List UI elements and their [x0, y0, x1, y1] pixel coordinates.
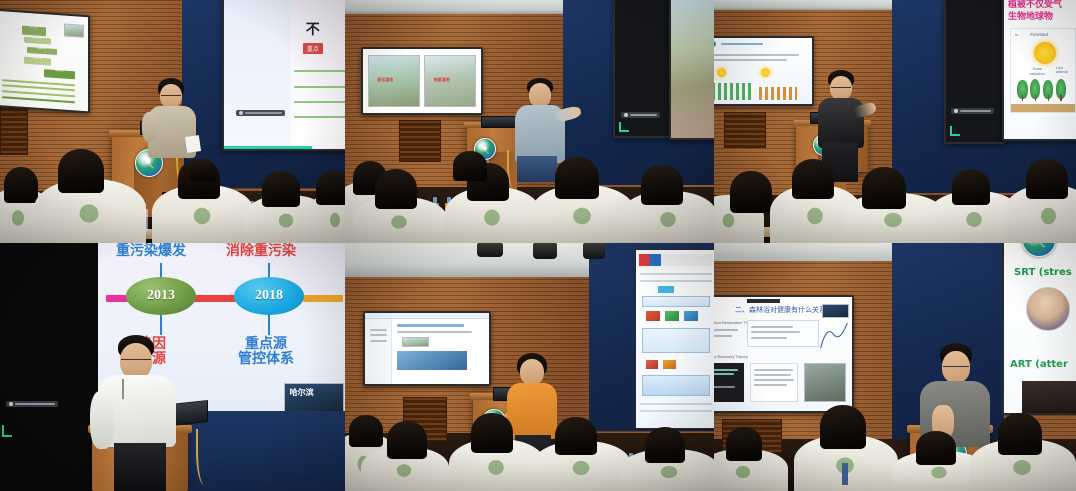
accent-corner	[950, 126, 960, 136]
diagram-node: 结果分析	[44, 70, 75, 80]
figure-label: Forested	[1030, 32, 1048, 37]
page-text	[397, 331, 471, 333]
slide-left-column	[224, 0, 291, 149]
bar-group	[714, 83, 751, 100]
audience-head	[792, 159, 834, 199]
card-text	[714, 369, 738, 371]
slide-badge: 重点	[303, 43, 323, 54]
vegetation-slide: 植被不仅受气 生物地球物 In Forested Solar radiation…	[1004, 0, 1076, 139]
tree-icon	[1056, 79, 1066, 99]
slide-text-bar	[714, 329, 738, 331]
sun-icon	[761, 68, 770, 77]
audience-head	[262, 171, 300, 207]
diagram-node: 技术路线	[24, 36, 52, 45]
presenter-view-widget[interactable]	[621, 112, 660, 118]
table-row	[751, 331, 800, 333]
audience-head	[375, 169, 417, 209]
audience-head	[555, 417, 597, 455]
card-text	[714, 373, 734, 375]
card-text	[714, 386, 735, 388]
audience-head	[916, 431, 956, 465]
slide-heading-line2: 生物地球物	[1008, 12, 1053, 23]
figure-label: Low albedo	[1056, 66, 1073, 75]
page-banner	[397, 351, 466, 369]
flow-diagram-slide: 研究方法 技术路线 数据采集 模型构建 结果分析	[0, 11, 88, 111]
presenter-view-widget[interactable]	[6, 401, 58, 407]
audience-head	[190, 159, 216, 181]
presenter-view-icon	[9, 402, 13, 406]
timeline-top-label: 消除重污染	[226, 244, 296, 259]
presenter-view-icon	[239, 111, 243, 115]
slide-heading: 二、森林浴对健康有什么关系?	[735, 305, 830, 315]
panel-top-middle[interactable]: 退化湿地 恢复湿地	[345, 0, 714, 243]
text-line	[754, 379, 794, 381]
bar-row	[2, 96, 76, 103]
text-line	[754, 369, 794, 371]
poster-heading-srt: SRT (stres	[1014, 267, 1072, 278]
audience-head	[316, 171, 345, 205]
diagram-node: 数据采集	[27, 47, 56, 56]
panel-bottom-left[interactable]: 重污染爆发 消除重污染 2013 2018 追因溯源 重点源管控体系 哈尔滨 京…	[0, 243, 345, 491]
slide-rule	[294, 86, 345, 88]
field-photo	[424, 55, 476, 106]
slide-heading: 不	[306, 19, 320, 39]
ground-strip	[1011, 104, 1075, 112]
presenter-view-icon	[624, 113, 628, 117]
audience-row	[714, 151, 1076, 243]
slide-subheading: Stress Recovery Theory	[714, 354, 748, 359]
wall-display[interactable]: 二、森林浴对健康有什么关系? Attention Restoration The…	[714, 295, 854, 413]
app-header	[639, 254, 713, 266]
slide-logo-icon	[714, 41, 716, 47]
timeline-segment	[303, 295, 343, 302]
tree-icon	[1017, 80, 1027, 98]
page-image	[402, 337, 429, 347]
tree-icon	[1043, 80, 1053, 98]
sidebar-item	[370, 329, 387, 331]
bar-group	[759, 87, 797, 100]
cable	[196, 429, 210, 485]
app-thumb	[646, 360, 659, 369]
speaker-head	[520, 359, 544, 385]
sidebar-item	[370, 334, 387, 336]
slide-text-block	[750, 363, 798, 402]
audience-head	[820, 405, 866, 449]
presenter-view-widget[interactable]	[951, 108, 994, 114]
sidebar-item	[370, 340, 387, 342]
audience-row	[0, 151, 345, 243]
audience-head	[471, 413, 513, 453]
left-wall-display[interactable]	[714, 36, 814, 106]
app-thumb	[663, 360, 676, 369]
audience-row	[714, 411, 1076, 491]
speaker-glasses	[121, 359, 151, 361]
slide-rule	[294, 101, 345, 103]
app-card	[642, 296, 711, 307]
landscape-photo	[671, 0, 714, 138]
figure-frame: In Forested Solar radiation Low albedo	[1010, 28, 1076, 113]
accent-underline	[224, 146, 312, 149]
photo-collage: 研究方法 技术路线 数据采集 模型构建 结果分析 不 重点	[0, 0, 1076, 491]
right-photo-display[interactable]	[669, 0, 714, 140]
slide-text-bar	[714, 335, 732, 337]
slide-title-bar	[721, 43, 763, 45]
right-wall-display[interactable]: 不 重点	[222, 0, 345, 151]
app-thumb	[665, 311, 679, 322]
slide-thumbnail: 哈尔滨	[284, 383, 344, 413]
portrait-app-display[interactable]	[635, 249, 714, 429]
figure-axis-label: In	[1015, 32, 1018, 37]
side-dark-display[interactable]	[944, 0, 1006, 144]
presenter-view-widget[interactable]	[236, 110, 286, 116]
timeline-bottom-label: 重点源管控体系	[238, 337, 294, 368]
photo-pair-slide: 退化湿地 恢复湿地	[363, 49, 481, 113]
photo-caption: 退化湿地	[377, 77, 393, 83]
slide-text-bar	[714, 54, 799, 56]
accent-corner	[619, 122, 629, 132]
slide-tab	[747, 299, 780, 302]
slide-thumbnail	[822, 304, 849, 318]
app-thumb	[646, 311, 660, 322]
research-slide: 二、森林浴对健康有什么关系? Attention Restoration The…	[714, 297, 852, 411]
presenter-view-icon	[954, 109, 958, 113]
poster-heading-art: ART (atter	[1010, 359, 1068, 370]
poster-dark-block	[1022, 381, 1076, 415]
timeline-stem	[268, 315, 270, 335]
speaker-head	[529, 83, 551, 107]
researcher-portrait	[1026, 287, 1070, 331]
diagram-node: 模型构建	[24, 57, 52, 66]
page-heading	[397, 324, 464, 327]
audience-row	[345, 147, 714, 243]
speaker-head	[120, 343, 152, 379]
diagram-node: 研究方法	[22, 26, 46, 36]
timeline-node: 2013	[126, 277, 196, 315]
slide-text-bar	[714, 59, 787, 61]
right-poster[interactable]: SRT (stres ART (atter	[1002, 243, 1076, 415]
widget-label-bar	[630, 114, 657, 116]
sun-icon	[1034, 42, 1056, 64]
accent-corner	[2, 425, 12, 437]
sun-icon	[717, 68, 726, 77]
audience-head	[4, 167, 38, 203]
bar-chart-slide	[714, 38, 812, 104]
side-dark-display[interactable]	[613, 0, 673, 138]
app-card	[642, 328, 711, 353]
lapel-mic	[122, 379, 124, 399]
side-display-inner	[615, 0, 671, 136]
side-display-inner	[946, 0, 1004, 142]
thumbnail-caption: 哈尔滨	[290, 387, 314, 398]
speaker-glasses	[943, 366, 969, 368]
audience-head	[349, 415, 383, 447]
text-line	[754, 384, 787, 386]
widget-label-bar	[960, 110, 991, 112]
audience-head	[641, 165, 683, 205]
ceiling-speaker	[533, 243, 557, 259]
audience-row	[345, 403, 714, 491]
widget-label-bar	[245, 112, 283, 114]
left-wall-display[interactable]: 研究方法 技术路线 数据采集 模型构建 结果分析	[0, 9, 90, 114]
panel-bottom-right[interactable]: 二、森林浴对健康有什么关系? Attention Restoration The…	[714, 243, 1076, 491]
app-thumb	[684, 311, 698, 322]
wall-louver	[724, 112, 766, 148]
audience-head	[555, 157, 599, 199]
slide-dark-card	[714, 363, 744, 402]
speaker-arm	[142, 112, 158, 142]
widget-label-bar	[15, 403, 55, 405]
slide-heading-line1: 植被不仅受气	[1008, 0, 1062, 11]
audience-head	[1026, 159, 1068, 199]
app-row	[640, 280, 712, 282]
audience-head	[645, 427, 685, 463]
text-line	[754, 374, 791, 376]
speaker-arm	[90, 391, 114, 449]
lanyard	[842, 463, 848, 485]
table-row	[751, 337, 787, 339]
slide-thumbnail	[64, 23, 84, 38]
secondary-slide: 不 重点	[224, 0, 345, 149]
panel-bottom-middle[interactable]	[345, 243, 714, 491]
app-card	[642, 375, 711, 396]
slide-photo	[804, 363, 846, 402]
audience-head	[998, 413, 1042, 455]
audience-head	[58, 149, 104, 193]
tree-icon	[1030, 79, 1040, 99]
audience-head	[862, 167, 906, 209]
slide-rule	[294, 70, 345, 72]
app-highlight	[658, 286, 674, 293]
right-portrait-display[interactable]: 植被不仅受气 生物地球物 In Forested Solar radiation…	[1002, 0, 1076, 141]
slide-table	[747, 320, 819, 347]
globe-emblem	[1022, 243, 1056, 257]
speaker-bottom-left	[92, 335, 182, 491]
ceiling-speaker	[583, 243, 605, 259]
figure-label: Solar radiation	[1028, 67, 1047, 76]
slide-rule	[294, 116, 345, 118]
timeline-top-label: 重污染爆发	[116, 244, 186, 259]
webpage-slide	[365, 313, 489, 384]
table-row	[751, 326, 793, 328]
timeline-stem	[160, 315, 162, 335]
audience-head	[387, 421, 427, 459]
wall-display[interactable]: 退化湿地 恢复湿地	[361, 47, 483, 115]
speaker-top-left	[140, 78, 202, 156]
panel-top-left[interactable]: 研究方法 技术路线 数据采集 模型构建 结果分析 不 重点	[0, 0, 345, 243]
panel-top-right[interactable]: 植被不仅受气 生物地球物 In Forested Solar radiation…	[714, 0, 1076, 243]
app-row	[640, 273, 712, 275]
ceiling-speaker	[477, 243, 503, 257]
speaker-trousers	[114, 443, 166, 491]
audience-head	[453, 151, 487, 181]
speaker-glasses	[161, 95, 181, 97]
curve-chart	[819, 320, 849, 350]
photo-caption: 恢复湿地	[434, 77, 450, 83]
timeline-node: 2018	[234, 277, 304, 315]
wall-display[interactable]	[363, 311, 491, 386]
field-photo	[368, 55, 420, 106]
audience-head	[952, 169, 990, 205]
speaker-glasses	[831, 87, 851, 89]
audience-head	[730, 171, 772, 213]
audience-head	[726, 427, 762, 461]
